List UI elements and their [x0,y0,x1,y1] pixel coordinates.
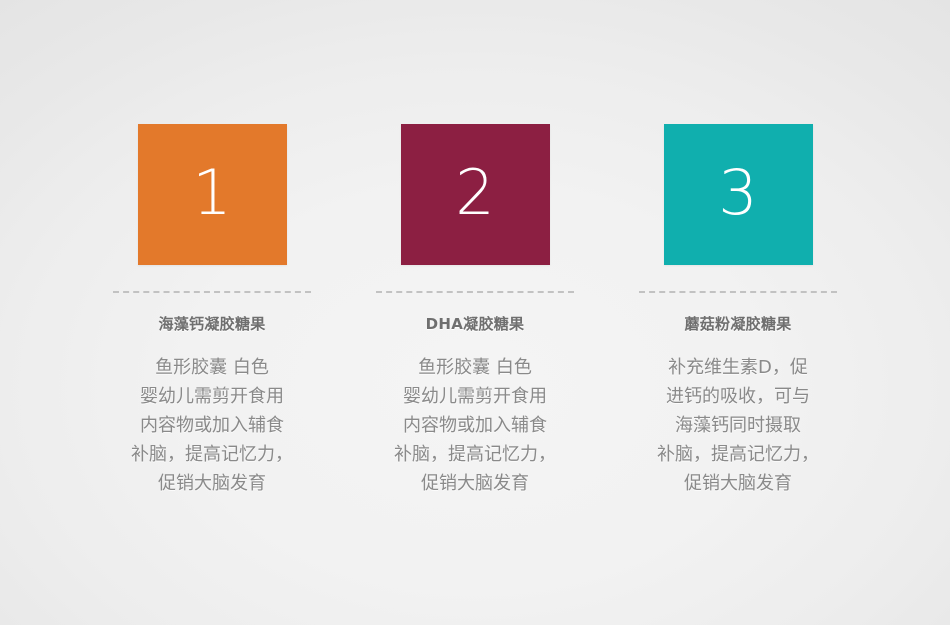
body-line: 促销大脑发育 [363,469,588,498]
body-line: 海藻钙同时摄取 [626,411,851,440]
body-line: 内容物或加入辅食 [100,411,325,440]
card-title-1: 海藻钙凝胶糖果 [158,315,265,335]
number-tile-2[interactable]: 2 [401,124,550,265]
body-line: 婴幼儿需剪开食用 [363,382,588,411]
body-line: 补脑，提高记忆力， [100,440,325,469]
dashed-divider-3 [639,291,837,293]
body-line: 补脑，提高记忆力， [626,440,851,469]
card-body-3: 补充维生素D，促 进钙的吸收，可与 海藻钙同时摄取 补脑，提高记忆力， 促销大脑… [626,353,851,499]
info-card-1[interactable]: 1 海藻钙凝胶糖果 鱼形胶囊 白色 婴幼儿需剪开食用 内容物或加入辅食 补脑，提… [83,0,342,498]
card-body-2: 鱼形胶囊 白色 婴幼儿需剪开食用 内容物或加入辅食 补脑，提高记忆力， 促销大脑… [363,353,588,499]
body-line: 促销大脑发育 [626,469,851,498]
body-line: 婴幼儿需剪开食用 [100,382,325,411]
number-tile-1[interactable]: 1 [138,124,287,265]
body-line: 进钙的吸收，可与 [626,382,851,411]
number-tile-3[interactable]: 3 [664,124,813,265]
body-line: 鱼形胶囊 白色 [363,353,588,382]
infographic-canvas: 1 海藻钙凝胶糖果 鱼形胶囊 白色 婴幼儿需剪开食用 内容物或加入辅食 补脑，提… [0,0,950,625]
dashed-divider-1 [113,291,311,293]
body-line: 补脑，提高记忆力， [363,440,588,469]
column-container: 1 海藻钙凝胶糖果 鱼形胶囊 白色 婴幼儿需剪开食用 内容物或加入辅食 补脑，提… [0,0,950,625]
info-card-3[interactable]: 3 蘑菇粉凝胶糖果 补充维生素D，促 进钙的吸收，可与 海藻钙同时摄取 补脑，提… [609,0,868,498]
tile-number-label: 3 [718,162,757,224]
card-title-3: 蘑菇粉凝胶糖果 [684,315,791,335]
dashed-divider-2 [376,291,574,293]
body-line: 补充维生素D，促 [626,353,851,382]
body-line: 促销大脑发育 [100,469,325,498]
tile-number-label: 1 [192,162,231,224]
info-card-2[interactable]: 2 DHA凝胶糖果 鱼形胶囊 白色 婴幼儿需剪开食用 内容物或加入辅食 补脑，提… [346,0,605,498]
body-line: 鱼形胶囊 白色 [100,353,325,382]
body-line: 内容物或加入辅食 [363,411,588,440]
card-title-2: DHA凝胶糖果 [426,315,525,335]
card-body-1: 鱼形胶囊 白色 婴幼儿需剪开食用 内容物或加入辅食 补脑，提高记忆力， 促销大脑… [100,353,325,499]
tile-number-label: 2 [455,162,494,224]
